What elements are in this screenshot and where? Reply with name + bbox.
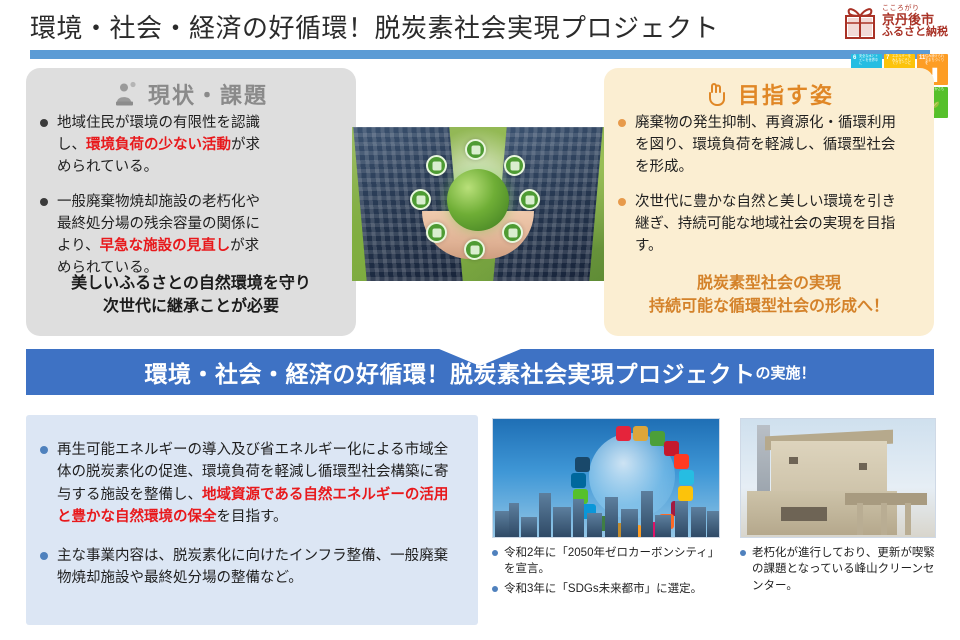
skyline-building <box>587 513 602 537</box>
eco-icon-badge <box>410 189 431 210</box>
hands-holding-green-globe-photo <box>352 127 604 281</box>
goal-vision-card: 目指す姿 廃棄物の発生抑制、再資源化・循環利用を図り、環境負荷を軽減し、循環型社… <box>604 68 934 336</box>
canopy-column <box>857 503 863 535</box>
bullet-highlight: 環境負荷の少ない活動 <box>86 137 231 153</box>
caption-text: 令和3年に「SDGs未来都市」に選定。 <box>504 581 702 597</box>
sdg-label: 住み続けられるまちづくりを <box>925 55 946 66</box>
current-issues-footer: 美しいふるさとの自然環境を守り 次世代に継承ことが必要 <box>26 272 366 318</box>
canopy-column <box>881 503 887 535</box>
caption-item: 令和3年に「SDGs未来都市」に選定。 <box>492 581 724 597</box>
skyline-building <box>641 491 653 537</box>
current-issues-footer-line1: 美しいふるさとの自然環境を守り <box>26 272 356 295</box>
skyline-building <box>509 503 519 537</box>
bullet-item: 次世代に豊かな自然と美しい環境を引き継ぎ、持続可能な地域社会の実現を目指す。 <box>618 191 922 257</box>
goal-vision-title: 目指す姿 <box>738 78 834 110</box>
green-globe <box>447 169 509 231</box>
skyline-building <box>605 497 618 537</box>
plant-photo-caption: 老朽化が進行しており、更新が喫緊の課題となっている峰山クリーンセンター。 <box>740 545 940 597</box>
sdgs-ring-icon <box>616 426 631 441</box>
caption-dot-icon <box>492 586 498 592</box>
skyline-building <box>495 511 509 537</box>
pointing-hand-icon <box>704 81 730 107</box>
bullet-highlight: 早急な施設の見直し <box>100 238 231 254</box>
eco-icon-badge <box>426 222 447 243</box>
bullet-dot-icon <box>40 119 48 127</box>
caption-item: 令和2年に「2050年ゼロカーボンシティ」を宣言。 <box>492 545 724 578</box>
eco-icon-badge <box>502 222 523 243</box>
caption-text: 老朽化が進行しており、更新が喫緊の課題となっている峰山クリーンセンター。 <box>752 545 940 594</box>
skyline-building <box>621 509 638 537</box>
plaid-sleeve-right <box>493 127 602 281</box>
caption-text: 令和2年に「2050年ゼロカーボンシティ」を宣言。 <box>504 545 724 578</box>
skyline-building <box>553 507 571 537</box>
city-photo-caption: 令和2年に「2050年ゼロカーボンシティ」を宣言。令和3年に「SDGs未来都市」… <box>492 545 724 600</box>
current-issues-footer-line2: 次世代に継承ことが必要 <box>26 295 356 318</box>
bullet-item: 主な事業内容は、脱炭素化に向けたインフラ整備、一般廃棄物焼却施設や最終処分場の整… <box>40 545 464 590</box>
caption-dot-icon <box>740 550 746 556</box>
goal-vision-footer-line2: 持続可能な循環型社会の形成へ！ <box>604 295 934 318</box>
gift-box-icon <box>843 4 877 40</box>
mineyama-clean-center-photo <box>740 418 936 538</box>
current-issues-header: 現状・課題 <box>26 68 356 110</box>
bullet-text: 次世代に豊かな自然と美しい環境を引き継ぎ、持続可能な地域社会の実現を目指す。 <box>635 191 903 257</box>
current-issues-card: 現状・課題 地域住民が環境の有限性を認識し、環境負荷の少ない活動が求められている… <box>26 68 356 336</box>
sdgs-ring-icon <box>674 454 689 469</box>
skyline-building <box>707 511 719 537</box>
bullet-item: 廃棄物の発生抑制、再資源化・循環利用を図り、環境負荷を軽減し、循環型社会を形成。 <box>618 112 922 178</box>
eco-icon-badge <box>504 155 525 176</box>
goal-vision-header: 目指す姿 <box>604 68 934 110</box>
skyline-building <box>675 501 688 537</box>
eco-icon-badge <box>465 139 486 160</box>
bullet-dot-icon <box>40 198 48 206</box>
slide-root: 環境・社会・経済の好循環！脱炭素社会実現プロジェクト こころがり 京丹後市 ふる… <box>0 0 960 640</box>
building-window <box>859 463 867 470</box>
sdgs-ring-icon <box>650 431 665 446</box>
sdg-number: 7 <box>886 55 889 61</box>
eco-icon-badge <box>426 155 447 176</box>
title-underline-rule <box>30 50 930 59</box>
building-window <box>781 507 827 521</box>
sdgs-ring-icon <box>633 426 648 441</box>
sdgs-ring-icon <box>679 470 694 485</box>
project-banner-main: 環境・社会・経済の好循環！脱炭素社会実現プロジェクト <box>144 355 755 389</box>
page-title: 環境・社会・経済の好循環！脱炭素社会実現プロジェクト <box>30 8 719 45</box>
sdg-label: エネルギーをみんなにそしてクリーンに <box>892 55 913 66</box>
skyline-building <box>521 517 537 537</box>
goal-vision-footer-line1: 脱炭素型社会の実現 <box>604 272 934 295</box>
current-issues-bullet-list: 地域住民が環境の有限性を認識し、環境負荷の少ない活動が求められている。一般廃棄物… <box>26 110 356 279</box>
logo-city-name: 京丹後市 <box>882 13 948 27</box>
skyline-building <box>691 507 706 537</box>
current-issues-title: 現状・課題 <box>148 78 268 110</box>
bullet-text: 一般廃棄物焼却施設の老朽化や最終処分場の残余容量の関係により、早急な施設の見直し… <box>57 191 272 279</box>
project-banner-suffix: の実施！ <box>755 362 815 383</box>
canopy-column <box>905 503 911 535</box>
presenter-person-icon <box>114 81 140 107</box>
sdgs-ring-icon <box>575 457 590 472</box>
bullet-item: 一般廃棄物焼却施設の老朽化や最終処分場の残余容量の関係により、早急な施設の見直し… <box>40 191 344 279</box>
bullet-text: 地域住民が環境の有限性を認識し、環境負荷の少ない活動が求められている。 <box>57 112 272 178</box>
caption-dot-icon <box>492 550 498 556</box>
building-window <box>789 457 798 464</box>
skyline-building <box>539 493 551 537</box>
caption-item: 老朽化が進行しており、更新が喫緊の課題となっている峰山クリーンセンター。 <box>740 545 940 594</box>
sdg-number: 6 <box>853 55 856 61</box>
bullet-highlight: 地域資源である自然エネルギーの活用と豊かな自然環境の保全 <box>57 487 448 525</box>
bullet-item: 地域住民が環境の有限性を認識し、環境負荷の少ない活動が求められている。 <box>40 112 344 178</box>
eco-icon-badge <box>464 239 485 260</box>
bullet-item: 再生可能エネルギーの導入及び省エネルギー化による市域全体の脱炭素化の促進、環境負… <box>40 439 464 529</box>
eco-icon-badge <box>519 189 540 210</box>
sdg-label: 安全な水とトイレを世界中に <box>859 55 880 66</box>
project-details-bullet-list: 再生可能エネルギーの導入及び省エネルギー化による市域全体の脱炭素化の促進、環境負… <box>40 439 464 590</box>
goal-vision-bullet-list: 廃棄物の発生抑制、再資源化・循環利用を図り、環境負荷を軽減し、循環型社会を形成。… <box>604 110 934 257</box>
city-skyline <box>493 485 719 537</box>
bullet-text: 主な事業内容は、脱炭素化に向けたインフラ整備、一般廃棄物焼却施設や最終処分場の整… <box>57 545 457 590</box>
project-banner: 環境・社会・経済の好循環！脱炭素社会実現プロジェクトの実施！ <box>26 349 934 395</box>
goal-vision-footer: 脱炭素型社会の実現 持続可能な循環型社会の形成へ！ <box>604 272 934 318</box>
kyotango-furusato-logo: こころがり 京丹後市 ふるさと納税 <box>843 4 948 40</box>
sdgs-city-skyline-photo <box>492 418 720 538</box>
logo-program-name: ふるさと納税 <box>882 27 948 39</box>
bullet-dot-icon <box>618 119 626 127</box>
bullet-text: 再生可能エネルギーの導入及び省エネルギー化による市域全体の脱炭素化の促進、環境負… <box>57 439 457 529</box>
skyline-building <box>573 499 584 537</box>
bullet-dot-icon <box>40 552 48 560</box>
project-details-panel: 再生可能エネルギーの導入及び省エネルギー化による市域全体の脱炭素化の促進、環境負… <box>26 415 478 625</box>
bullet-dot-icon <box>40 446 48 454</box>
bullet-dot-icon <box>618 198 626 206</box>
skyline-building <box>655 515 671 537</box>
bullet-text: 廃棄物の発生抑制、再資源化・循環利用を図り、環境負荷を軽減し、循環型社会を形成。 <box>635 112 903 178</box>
